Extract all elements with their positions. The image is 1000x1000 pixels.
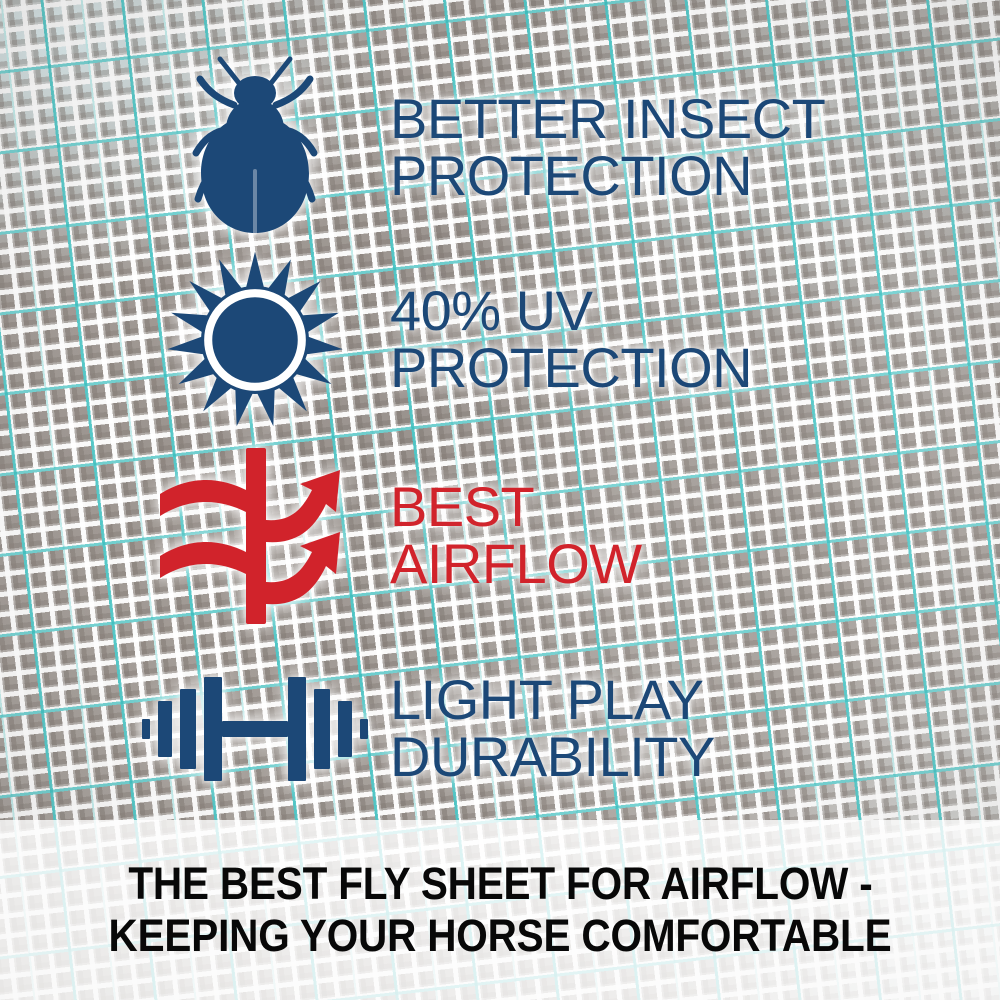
feature-label-uv-protection: 40% UV PROTECTION: [390, 283, 920, 396]
feature-row-insect-protection: BETTER INSECT PROTECTION: [120, 48, 920, 248]
infographic-canvas: BETTER INSECT PROTECTION: [0, 0, 1000, 1000]
feature-list: BETTER INSECT PROTECTION: [0, 0, 1000, 820]
feature-label-durability: LIGHT PLAY DURABILITY: [390, 672, 920, 785]
feature-line: PROTECTION: [390, 340, 920, 397]
feature-row-airflow: BEST AIRFLOW: [120, 436, 920, 636]
feature-line: BETTER INSECT: [390, 91, 920, 148]
sun-icon: [120, 250, 390, 430]
feature-row-durability: LIGHT PLAY DURABILITY: [120, 634, 920, 824]
dumbbell-icon: [120, 669, 390, 789]
feature-line: PROTECTION: [390, 148, 920, 205]
tagline-line-1: THE BEST FLY SHEET FOR AIRFLOW -: [128, 860, 872, 908]
fly-icon: [120, 53, 390, 243]
airflow-icon: [120, 446, 390, 626]
feature-line: LIGHT PLAY: [390, 672, 920, 729]
feature-label-airflow: BEST AIRFLOW: [390, 479, 920, 592]
feature-line: 40% UV: [390, 283, 920, 340]
feature-line: DURABILITY: [390, 729, 920, 786]
feature-row-uv-protection: 40% UV PROTECTION: [120, 242, 920, 438]
tagline-line-2: KEEPING YOUR HORSE COMFORTABLE: [109, 912, 892, 960]
feature-line: BEST: [390, 479, 920, 536]
feature-line: AIRFLOW: [390, 536, 920, 593]
tagline-banner: THE BEST FLY SHEET FOR AIRFLOW - KEEPING…: [0, 820, 1000, 1000]
feature-label-insect-protection: BETTER INSECT PROTECTION: [390, 91, 920, 204]
